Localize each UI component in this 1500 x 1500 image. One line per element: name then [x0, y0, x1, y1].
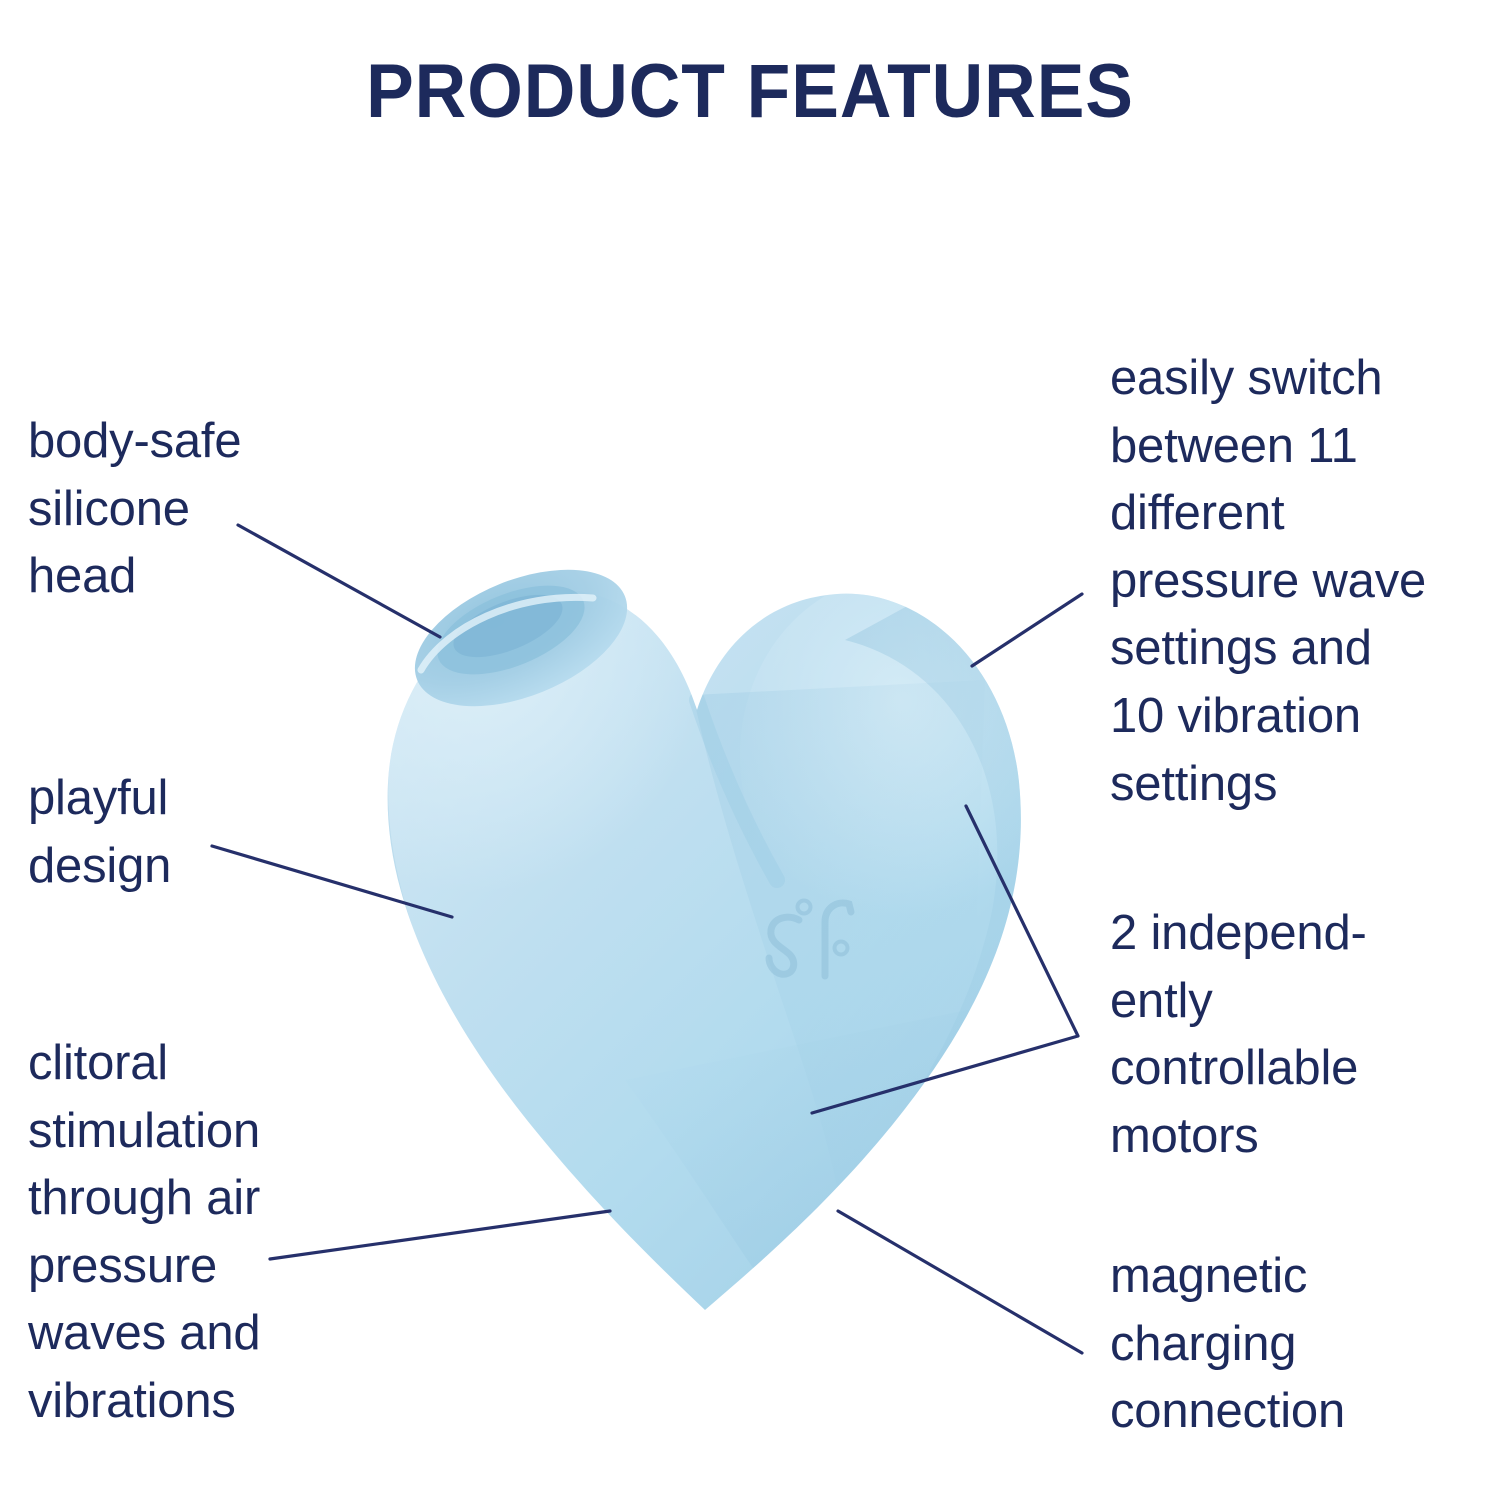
callout-playful-design: playful design: [28, 765, 171, 900]
product-features-infographic: PRODUCT FEATURES: [0, 0, 1500, 1500]
callout-clitoral-stimulation: clitoral stimulation through air pressur…: [28, 1030, 260, 1436]
callout-pressure-wave-settings: easily switch between 11 different press…: [1110, 345, 1426, 818]
product-image: [325, 520, 1065, 1350]
callout-magnetic-charging: magnetic charging connection: [1110, 1243, 1345, 1446]
callout-body-safe-silicone-head: body-safe silicone head: [28, 408, 241, 611]
page-title: PRODUCT FEATURES: [45, 48, 1455, 135]
callout-independent-motors: 2 independ- ently controllable motors: [1110, 900, 1367, 1170]
